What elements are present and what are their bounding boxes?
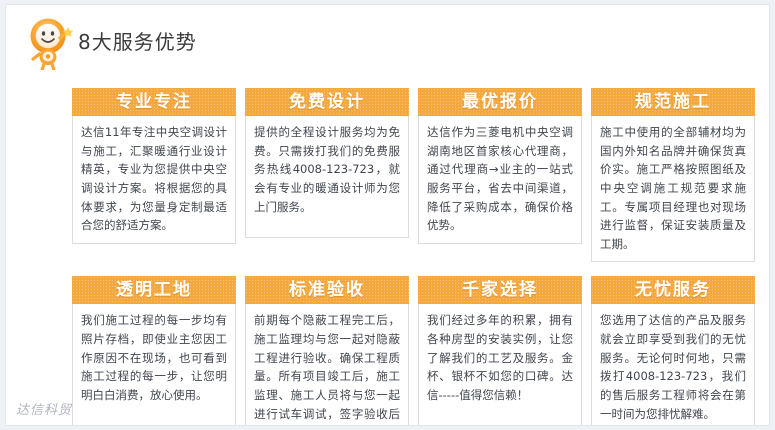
service-card-2-title: 免费设计 xyxy=(245,88,409,116)
service-card-5-body: 我们施工过程的每一步均有照片存档，即使业主您因工作原因不在现场，也可看到施工过程… xyxy=(72,304,236,426)
service-card-2-body: 提供的全程设计服务均为免费。只需拨打我们的免费服务热线4008-123-723，… xyxy=(245,116,409,238)
service-card-3: 最优报价 达信作为三菱电机中央空调湖南地区首家核心代理商，通过代理商→业主的一站… xyxy=(418,88,582,262)
service-card-6-title: 标准验收 xyxy=(245,276,409,304)
service-card-4-body: 施工中使用的全部辅材均为国内外知名品牌并确保货真价实。施工严格按照图纸及中央空调… xyxy=(591,116,755,262)
page-container: 8大服务优势 专业专注 达信11年专注中央空调设计与施工，汇聚暖通行业设计精英，… xyxy=(5,4,770,426)
service-card-5-title: 透明工地 xyxy=(72,276,236,304)
page-title: 8大服务优势 xyxy=(78,26,197,55)
service-card-8: 无忧服务 您选用了达信的产品及服务就会立即享受到我们的无忧服务。无论何时何地，只… xyxy=(591,276,755,426)
service-card-8-body: 您选用了达信的产品及服务就会立即享受到我们的无忧服务。无论何时何地，只需拨打40… xyxy=(591,304,755,426)
service-card-1-body: 达信11年专注中央空调设计与施工，汇聚暖通行业设计精英，专业为您提供中央空调设计… xyxy=(72,116,236,244)
mascot-sun-character-icon xyxy=(23,14,75,70)
page-header: 8大服务优势 xyxy=(6,5,769,73)
footer-watermark: 达信科贸 xyxy=(16,399,72,418)
service-card-7-title: 千家选择 xyxy=(418,276,582,304)
service-card-7-body: 我们经过多年的积累，拥有各种房型的安装实例，让您了解我们的工艺及服务。金杯、银杯… xyxy=(418,304,582,426)
service-card-7: 千家选择 我们经过多年的积累，拥有各种房型的安装实例，让您了解我们的工艺及服务。… xyxy=(418,276,582,426)
service-card-6-body: 前期每个隐蔽工程完工后，施工监理均与您一起对隐蔽工程进行验收。确保工程质量。所有… xyxy=(245,304,409,426)
service-card-3-body: 达信作为三菱电机中央空调湖南地区首家核心代理商，通过代理商→业主的一站式服务平台… xyxy=(418,116,582,244)
service-card-2: 免费设计 提供的全程设计服务均为免费。只需拨打我们的免费服务热线4008-123… xyxy=(245,88,409,262)
service-card-1-title: 专业专注 xyxy=(72,88,236,116)
service-card-4-title: 规范施工 xyxy=(591,88,755,116)
service-card-3-title: 最优报价 xyxy=(418,88,582,116)
service-card-1: 专业专注 达信11年专注中央空调设计与施工，汇聚暖通行业设计精英，专业为您提供中… xyxy=(72,88,236,262)
service-card-6: 标准验收 前期每个隐蔽工程完工后，施工监理均与您一起对隐蔽工程进行验收。确保工程… xyxy=(245,276,409,426)
service-card-5: 透明工地 我们施工过程的每一步均有照片存档，即使业主您因工作原因不在现场，也可看… xyxy=(72,276,236,426)
service-advantages-grid: 专业专注 达信11年专注中央空调设计与施工，汇聚暖通行业设计精英，专业为您提供中… xyxy=(72,88,762,426)
service-card-8-title: 无忧服务 xyxy=(591,276,755,304)
service-card-4: 规范施工 施工中使用的全部辅材均为国内外知名品牌并确保货真价实。施工严格按照图纸… xyxy=(591,88,755,262)
